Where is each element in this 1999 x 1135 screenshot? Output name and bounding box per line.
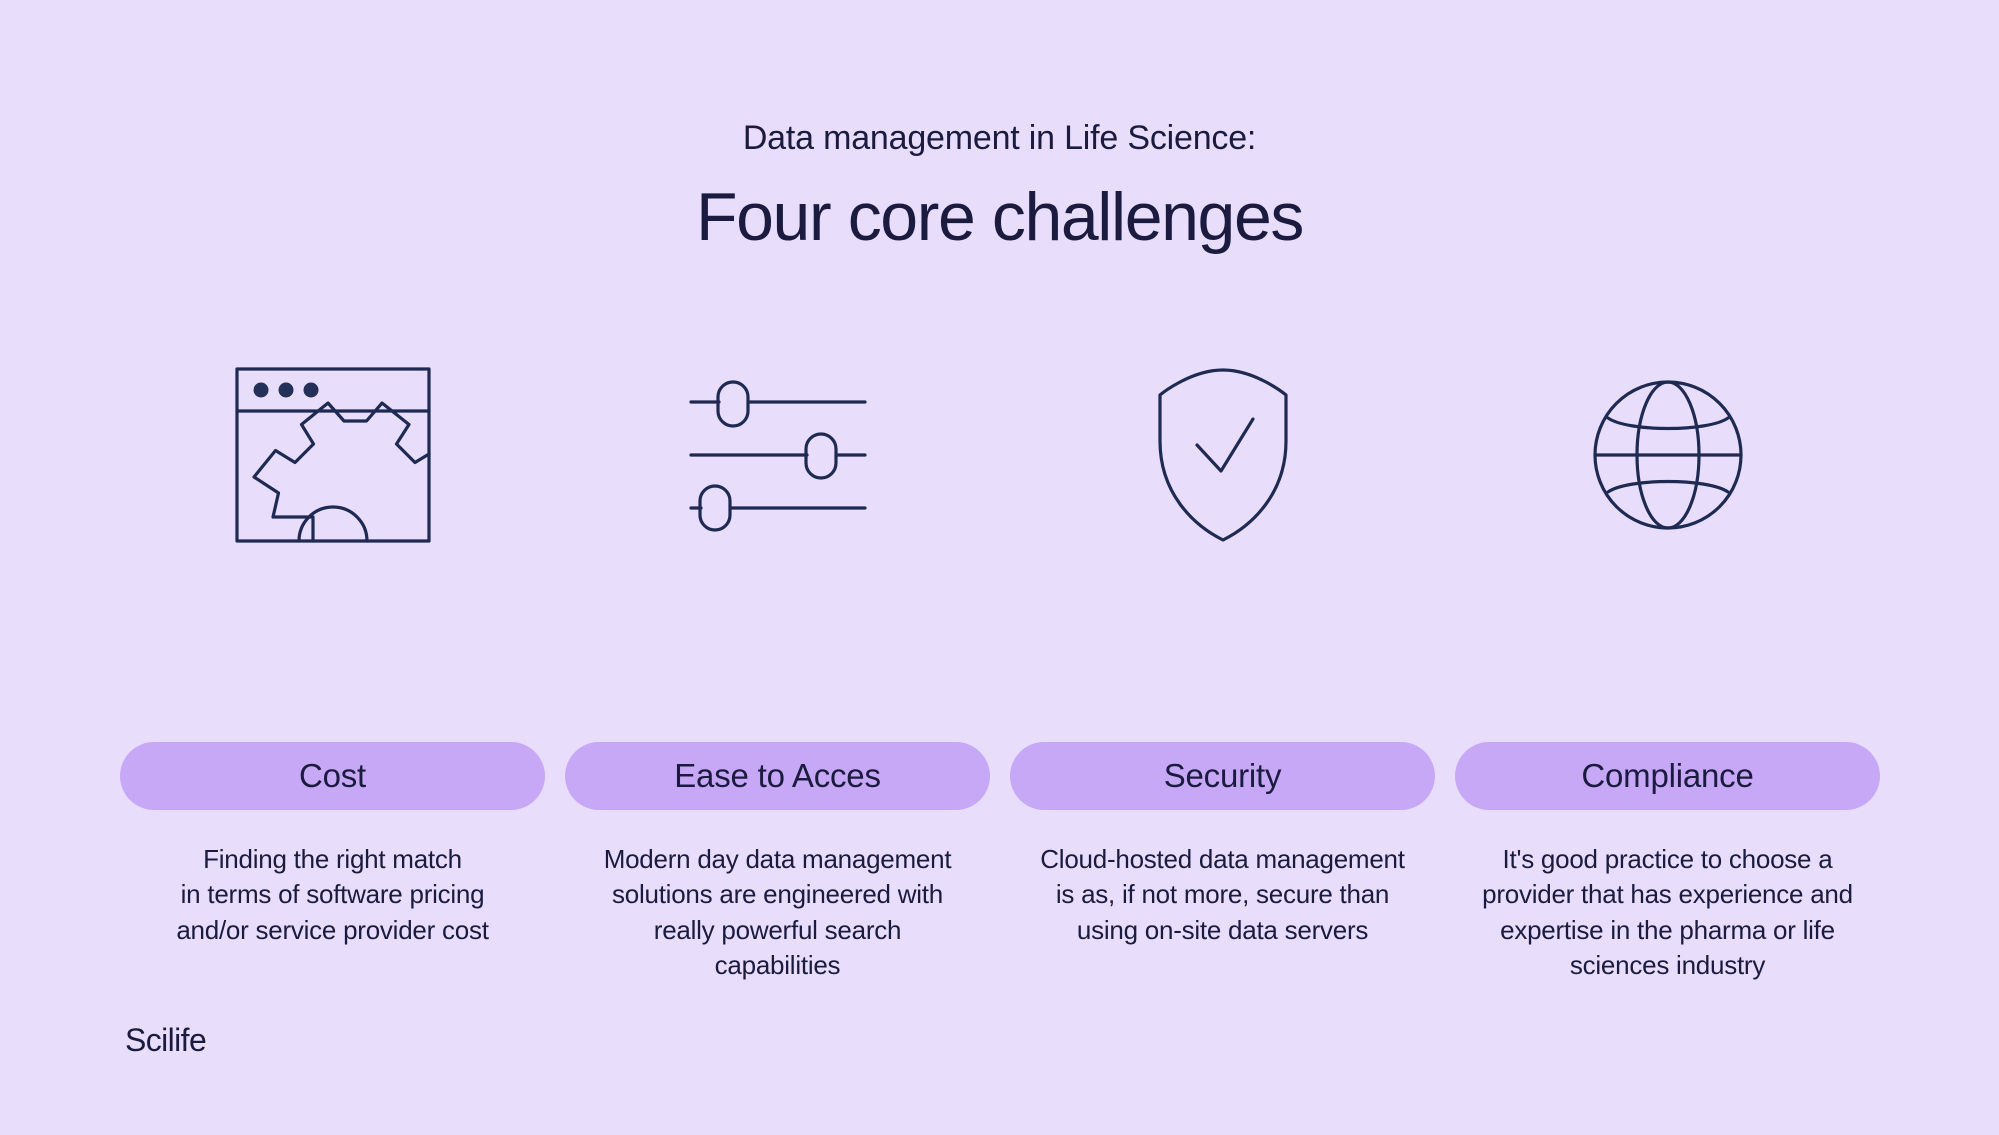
pill-zone: Ease to Acces: [565, 555, 990, 810]
challenge-pill-cost[interactable]: Cost: [120, 742, 545, 810]
challenge-column-cost: Cost Finding the right match in terms of…: [120, 355, 545, 948]
challenge-pill-compliance[interactable]: Compliance: [1455, 742, 1880, 810]
challenge-caption-cost: Finding the right match in terms of soft…: [120, 842, 545, 948]
globe-icon: [1455, 355, 1880, 555]
challenge-column-ease-to-access: Ease to Acces Modern day data management…: [565, 355, 990, 983]
challenge-column-security: Security Cloud-hosted data management is…: [1010, 355, 1435, 948]
pill-zone: Security: [1010, 555, 1435, 810]
challenge-columns: Cost Finding the right match in terms of…: [120, 355, 1880, 983]
challenge-caption-compliance: It's good practice to choose a provider …: [1455, 842, 1880, 983]
challenge-pill-ease-to-access[interactable]: Ease to Acces: [565, 742, 990, 810]
eyebrow-text: Data management in Life Science:: [0, 118, 1999, 159]
challenge-pill-security[interactable]: Security: [1010, 742, 1435, 810]
pill-zone: Cost: [120, 555, 545, 810]
challenge-column-compliance: Compliance It's good practice to choose …: [1455, 355, 1880, 983]
challenge-caption-security: Cloud-hosted data management is as, if n…: [1010, 842, 1435, 948]
shield-check-icon: [1010, 355, 1435, 555]
browser-gear-icon: [120, 355, 545, 555]
pill-zone: Compliance: [1455, 555, 1880, 810]
sliders-icon: [565, 355, 990, 555]
header: Data management in Life Science: Four co…: [0, 118, 1999, 258]
scilife-logo: Scilife: [125, 1022, 206, 1059]
page-title: Four core challenges: [0, 177, 1999, 259]
challenge-caption-ease-to-access: Modern day data management solutions are…: [565, 842, 990, 983]
